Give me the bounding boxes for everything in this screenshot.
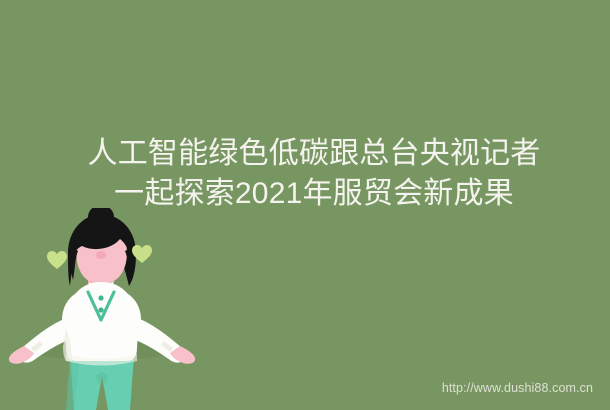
heart-left-icon [46, 250, 68, 270]
button-top [98, 295, 103, 300]
illustration-girl [0, 208, 250, 410]
button-bottom [98, 307, 103, 312]
headline-line-1: 人工智能绿色低碳跟总台央视记者 [18, 134, 610, 174]
poster-canvas: 人工智能绿色低碳跟总台央视记者 一起探索2021年服贸会新成果 http://w… [0, 0, 610, 410]
face-blush [96, 251, 106, 259]
watermark-url: http://www.dushi88.com.cn [442, 381, 593, 395]
heart-right-icon [131, 244, 153, 264]
headline-block: 人工智能绿色低碳跟总台央视记者 一起探索2021年服贸会新成果 [0, 134, 610, 214]
